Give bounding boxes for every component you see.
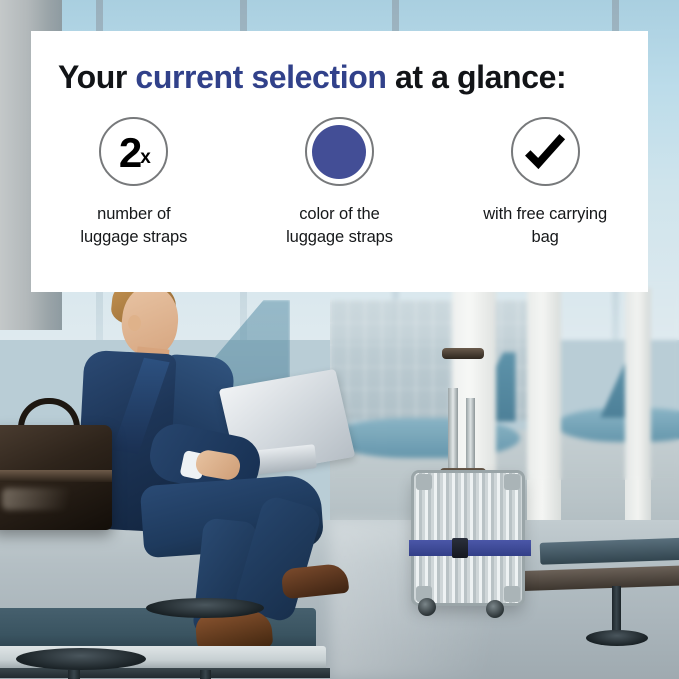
suitcase-handle-grip bbox=[442, 348, 484, 359]
caption-line-2: luggage straps bbox=[80, 226, 187, 249]
quantity-unit: x bbox=[140, 147, 151, 169]
bench-leg bbox=[200, 670, 211, 679]
luggage-strap-buckle bbox=[452, 538, 468, 558]
bench-foot bbox=[16, 648, 146, 670]
checkmark-glyph bbox=[522, 129, 568, 175]
suitcase-handle-bar bbox=[466, 398, 475, 474]
man-ear bbox=[128, 315, 141, 331]
briefcase-flap bbox=[0, 470, 112, 482]
suitcase-handle-bar bbox=[448, 388, 458, 474]
suitcase-corner bbox=[416, 474, 432, 490]
bench-foot bbox=[586, 630, 648, 646]
caption-line-1: color of the bbox=[286, 203, 393, 226]
bench-foot bbox=[146, 598, 264, 618]
page-title: Your current selection at a glance: bbox=[58, 59, 566, 96]
selection-summary-card: Your current selection at a glance: 2x n… bbox=[31, 31, 648, 292]
heading-after: at a glance: bbox=[386, 59, 566, 95]
caption-line-1: number of bbox=[80, 203, 187, 226]
checkmark-icon bbox=[511, 117, 580, 186]
feature-color: color of the luggage straps bbox=[237, 117, 443, 249]
feature-columns: 2x number of luggage straps color of the… bbox=[31, 117, 648, 249]
suitcase-corner bbox=[504, 474, 520, 490]
caption-line-2: bag bbox=[483, 226, 607, 249]
quantity-value: 2 bbox=[119, 132, 142, 174]
feature-carrying-bag: with free carrying bag bbox=[442, 117, 648, 249]
caption-line-2: luggage straps bbox=[286, 226, 393, 249]
suitcase-corner bbox=[504, 586, 520, 602]
feature-caption: color of the luggage straps bbox=[286, 203, 393, 249]
briefcase-highlight bbox=[2, 488, 98, 510]
color-swatch bbox=[312, 125, 366, 179]
feature-caption: with free carrying bag bbox=[483, 203, 607, 249]
bench-leg bbox=[68, 670, 80, 679]
heading-highlight: current selection bbox=[135, 59, 386, 95]
blue-luggage-strap bbox=[409, 540, 531, 556]
depth-of-field-blur bbox=[330, 280, 679, 480]
feature-caption: number of luggage straps bbox=[80, 203, 187, 249]
feature-quantity: 2x number of luggage straps bbox=[31, 117, 237, 249]
caption-line-1: with free carrying bbox=[483, 203, 607, 226]
number-2x-icon: 2x bbox=[99, 117, 168, 186]
suitcase-wheel bbox=[418, 598, 436, 616]
suitcase-wheel bbox=[486, 600, 504, 618]
heading-before: Your bbox=[58, 59, 135, 95]
bench-seat-edge bbox=[0, 668, 330, 678]
bench-right bbox=[540, 537, 679, 565]
color-swatch-icon bbox=[305, 117, 374, 186]
